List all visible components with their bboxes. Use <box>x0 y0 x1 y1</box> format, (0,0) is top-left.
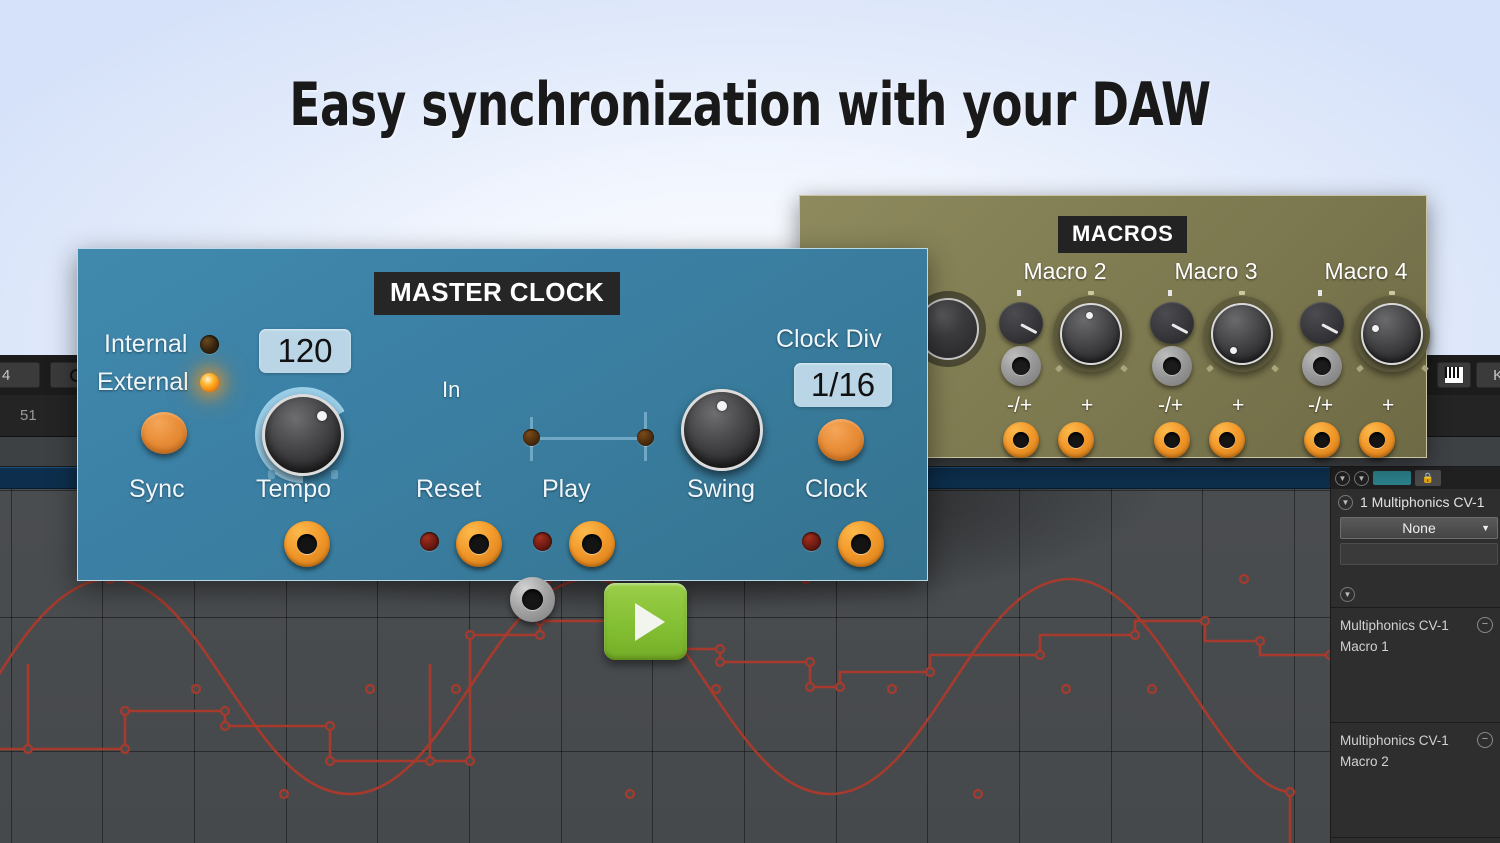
swing-knob-body <box>681 389 763 471</box>
tempo-value: 120 <box>277 332 332 370</box>
track-color-swatch[interactable] <box>1373 471 1411 485</box>
lane-param-name: Macro 1 <box>1340 637 1495 658</box>
macro-2-knob-indicator <box>1086 312 1093 319</box>
chevron-down-icon[interactable]: ▼ <box>1335 471 1350 486</box>
patch-line-horizontal <box>530 437 646 440</box>
bar-number: 51 <box>20 407 37 424</box>
sync-button[interactable] <box>141 412 187 454</box>
lane-param-name: Macro 2 <box>1340 752 1495 773</box>
play-output-jack[interactable] <box>569 521 615 567</box>
clock-activity-led <box>802 532 821 551</box>
macro-4-unipolar-jack[interactable] <box>1359 422 1395 458</box>
macro-2-output-jacks <box>995 422 1135 462</box>
tempo-knob-body <box>262 394 344 476</box>
macro-2-value-knob[interactable] <box>1053 296 1129 372</box>
macro-3-output-jacks <box>1146 422 1286 462</box>
lane-expand-icon[interactable]: ▼ <box>1340 587 1355 602</box>
tempo-knob-foot-right <box>331 470 338 479</box>
device-title: 1 Multiphonics CV-1 <box>1360 494 1485 510</box>
macro-column-2: Macro 2 -/+ + <box>995 258 1135 462</box>
macro-2-knob-tick-left <box>1055 365 1063 373</box>
master-clock-badge: MASTER CLOCK <box>374 272 620 315</box>
device-expand-icon[interactable]: ▼ <box>1338 495 1353 510</box>
macro-2-mini-tick <box>1017 290 1021 296</box>
device-title-row[interactable]: ▼ 1 Multiphonics CV-1 <box>1331 489 1500 515</box>
play-patch-dot[interactable] <box>637 429 654 446</box>
macro-4-jack-labels: -/+ + <box>1296 394 1436 420</box>
clock-div-value: 1/16 <box>811 366 875 404</box>
play-label: Play <box>542 475 591 504</box>
macro-4-title: Macro 4 <box>1296 258 1436 285</box>
macro-3-bipolar-label: -/+ <box>1158 394 1183 418</box>
key-button[interactable]: Key <box>1476 362 1500 388</box>
lock-icon[interactable]: 🔒 <box>1415 470 1441 486</box>
macro-2-bipolar-label: -/+ <box>1007 394 1032 418</box>
tempo-label: Tempo <box>256 475 331 504</box>
macro-column-3: Macro 3 -/+ + <box>1146 258 1286 462</box>
reset-in-jack[interactable] <box>510 577 555 622</box>
macro-4-bipolar-jack[interactable] <box>1304 422 1340 458</box>
macro-4-knob-cap <box>1361 303 1423 365</box>
page-title: Easy synchronization with your DAW <box>120 70 1380 140</box>
macro-4-attenuator-knob[interactable] <box>1300 302 1344 344</box>
macro-4-knob-tick-top <box>1389 291 1395 295</box>
macro-4-value-knob[interactable] <box>1354 296 1430 372</box>
macro-3-mini-tick <box>1168 290 1172 296</box>
macro-3-jack-labels: -/+ + <box>1146 394 1286 420</box>
macro-3-value-knob[interactable] <box>1204 296 1280 372</box>
swing-knob-indicator <box>717 401 727 411</box>
play-triangle-icon <box>635 603 665 641</box>
clock-button[interactable] <box>818 419 864 461</box>
key-label: Key <box>1493 367 1500 384</box>
macro-3-unipolar-label: + <box>1232 394 1244 418</box>
tempo-output-jack[interactable] <box>284 521 330 567</box>
macro-3-bipolar-jack[interactable] <box>1154 422 1190 458</box>
reset-activity-led <box>420 532 439 551</box>
tempo-knob[interactable] <box>255 387 351 483</box>
macro-2-cv-input-jack[interactable] <box>1001 346 1041 386</box>
internal-led <box>200 335 219 354</box>
chevron-down-icon-2[interactable]: ▼ <box>1354 471 1369 486</box>
clock-div-value-box[interactable]: 1/16 <box>794 363 892 407</box>
piano-roll-button[interactable] <box>1437 362 1471 388</box>
macro-4-knob-tick-right <box>1421 365 1429 373</box>
track-panel-header[interactable]: ▼ ▼ 🔒 <box>1331 467 1500 489</box>
macro-column-4: Macro 4 -/+ + <box>1296 258 1436 462</box>
macro-4-unipolar-label: + <box>1382 394 1394 418</box>
macro-2-unipolar-jack[interactable] <box>1058 422 1094 458</box>
macro-3-knob-indicator <box>1230 347 1237 354</box>
macro-2-attenuator-knob[interactable] <box>999 302 1043 344</box>
in-label: In <box>442 377 460 403</box>
macro-4-bipolar-label: -/+ <box>1308 394 1333 418</box>
chevron-down-icon-select: ▼ <box>1481 523 1490 533</box>
time-signature-field[interactable]: / 4 <box>0 362 40 388</box>
macro-2-title: Macro 2 <box>995 258 1135 285</box>
clock-div-label: Clock Div <box>776 325 882 354</box>
daw-track-panel[interactable]: ▼ ▼ 🔒 ▼ 1 Multiphonics CV-1 None ▼ ▼ Mul… <box>1330 467 1500 843</box>
master-clock-panel: MASTER CLOCK Internal External Sync 120 … <box>77 248 928 581</box>
macro-4-cv-input-jack[interactable] <box>1302 346 1342 386</box>
piano-keys-icon <box>1444 366 1464 384</box>
external-label: External <box>97 368 189 397</box>
macro-4-knob-tick-left <box>1356 365 1364 373</box>
macro-3-knob-tick-top <box>1239 291 1245 295</box>
macro-4-knob-indicator <box>1372 325 1379 332</box>
macro-3-knob-tick-right <box>1271 365 1279 373</box>
clock-output-jack[interactable] <box>838 521 884 567</box>
swing-knob[interactable] <box>676 384 768 476</box>
macro-3-knob-cap <box>1211 303 1273 365</box>
clock-label: Clock <box>805 475 868 504</box>
macro-3-title: Macro 3 <box>1146 258 1286 285</box>
lane-device-name: Multiphonics CV-1 <box>1340 616 1495 637</box>
tempo-knob-indicator <box>317 411 327 421</box>
macro-3-cv-input-jack[interactable] <box>1152 346 1192 386</box>
reset-patch-dot[interactable] <box>523 429 540 446</box>
automation-parameter-select[interactable]: None ▼ <box>1340 517 1498 539</box>
macro-2-attenuator-pointer <box>1020 323 1037 334</box>
macro-4-output-jacks <box>1296 422 1436 462</box>
tempo-value-box[interactable]: 120 <box>259 329 351 373</box>
lane-device-name: Multiphonics CV-1 <box>1340 731 1495 752</box>
macro-4-attenuator-pointer <box>1321 323 1338 334</box>
macro-2-unipolar-label: + <box>1081 394 1093 418</box>
list-item[interactable]: Multiphonics CV-1 − <box>1331 837 1500 843</box>
reset-output-jack[interactable] <box>456 521 502 567</box>
list-item[interactable]: Multiphonics CV-1 Macro 1 − <box>1331 607 1500 722</box>
sync-label: Sync <box>129 475 185 504</box>
external-led <box>200 373 219 392</box>
internal-label: Internal <box>104 330 187 359</box>
macro-2-knob-tick-top <box>1088 291 1094 295</box>
macro-2-knob-tick-right <box>1120 365 1128 373</box>
play-button[interactable] <box>604 583 687 660</box>
list-item[interactable]: Multiphonics CV-1 Macro 2 − <box>1331 722 1500 837</box>
play-activity-led <box>533 532 552 551</box>
select-value: None <box>1402 520 1435 536</box>
macro-2-knob-cap <box>1060 303 1122 365</box>
automation-value-field[interactable] <box>1340 543 1498 565</box>
macro-3-unipolar-jack[interactable] <box>1209 422 1245 458</box>
remove-lane-icon[interactable]: − <box>1477 617 1493 633</box>
swing-label: Swing <box>687 475 755 504</box>
macro-3-attenuator-knob[interactable] <box>1150 302 1194 344</box>
reset-label: Reset <box>416 475 481 504</box>
time-signature-value: / 4 <box>0 367 10 384</box>
macro-3-knob-tick-left <box>1206 365 1214 373</box>
macro-2-jack-labels: -/+ + <box>995 394 1135 420</box>
remove-lane-icon[interactable]: − <box>1477 732 1493 748</box>
macro-2-bipolar-jack[interactable] <box>1003 422 1039 458</box>
macro-4-mini-tick <box>1318 290 1322 296</box>
macros-badge: MACROS <box>1058 216 1187 253</box>
macro-3-attenuator-pointer <box>1171 323 1188 334</box>
